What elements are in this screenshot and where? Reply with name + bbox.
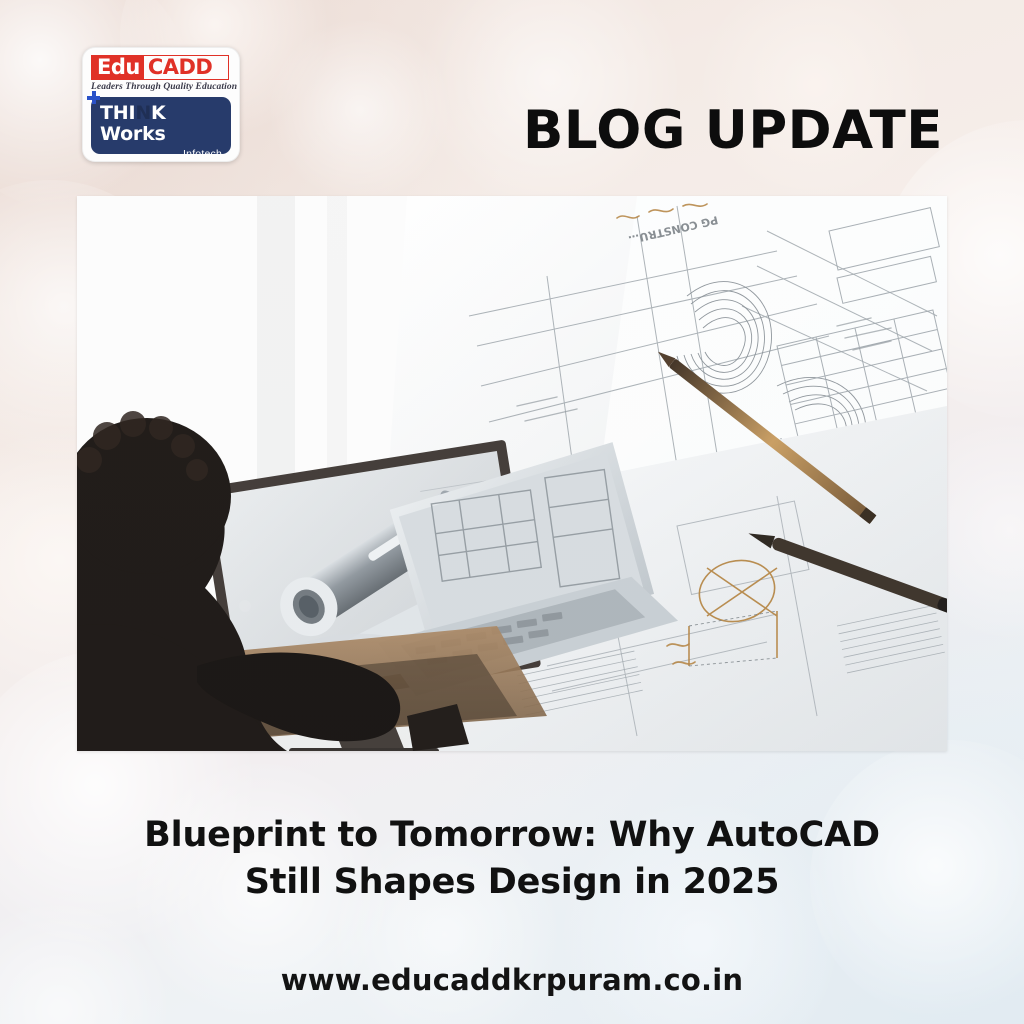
bokeh-circle	[0, 900, 170, 1024]
logo-infotech-text: Infotech	[100, 148, 222, 160]
headline-line-1: Blueprint to Tomorrow: Why AutoCAD	[144, 815, 880, 855]
page-title: BLOG UPDATE	[523, 103, 943, 159]
logo-think-pre: THI	[100, 102, 135, 124]
website-url[interactable]: www.educaddkrpuram.co.in	[62, 963, 962, 997]
educadd-thinkworks-logo[interactable]: Edu CADD Leaders Through Quality Educati…	[82, 47, 240, 162]
logo-edu-text: Edu	[92, 56, 144, 79]
headline-line-2: Still Shapes Design in 2025	[62, 859, 962, 906]
hero-photo-illustration: PG CONSTRU…	[77, 196, 947, 751]
plus-icon	[87, 91, 100, 104]
thinkworks-wordmark: THINK Works	[100, 103, 222, 145]
thinkworks-badge: THINK Works Infotech	[91, 97, 231, 154]
blog-update-poster: Edu CADD Leaders Through Quality Educati…	[0, 0, 1024, 1024]
logo-tagline: Leaders Through Quality Education	[91, 82, 231, 92]
logo-top-section: Edu CADD Leaders Through Quality Educati…	[83, 48, 239, 94]
hero-photo: PG CONSTRU…	[77, 196, 947, 751]
logo-cadd-text: CADD	[144, 56, 216, 79]
educadd-wordmark: Edu CADD	[91, 55, 229, 80]
article-headline: Blueprint to Tomorrow: Why AutoCAD Still…	[62, 812, 962, 906]
logo-think-mid: N	[135, 102, 151, 124]
